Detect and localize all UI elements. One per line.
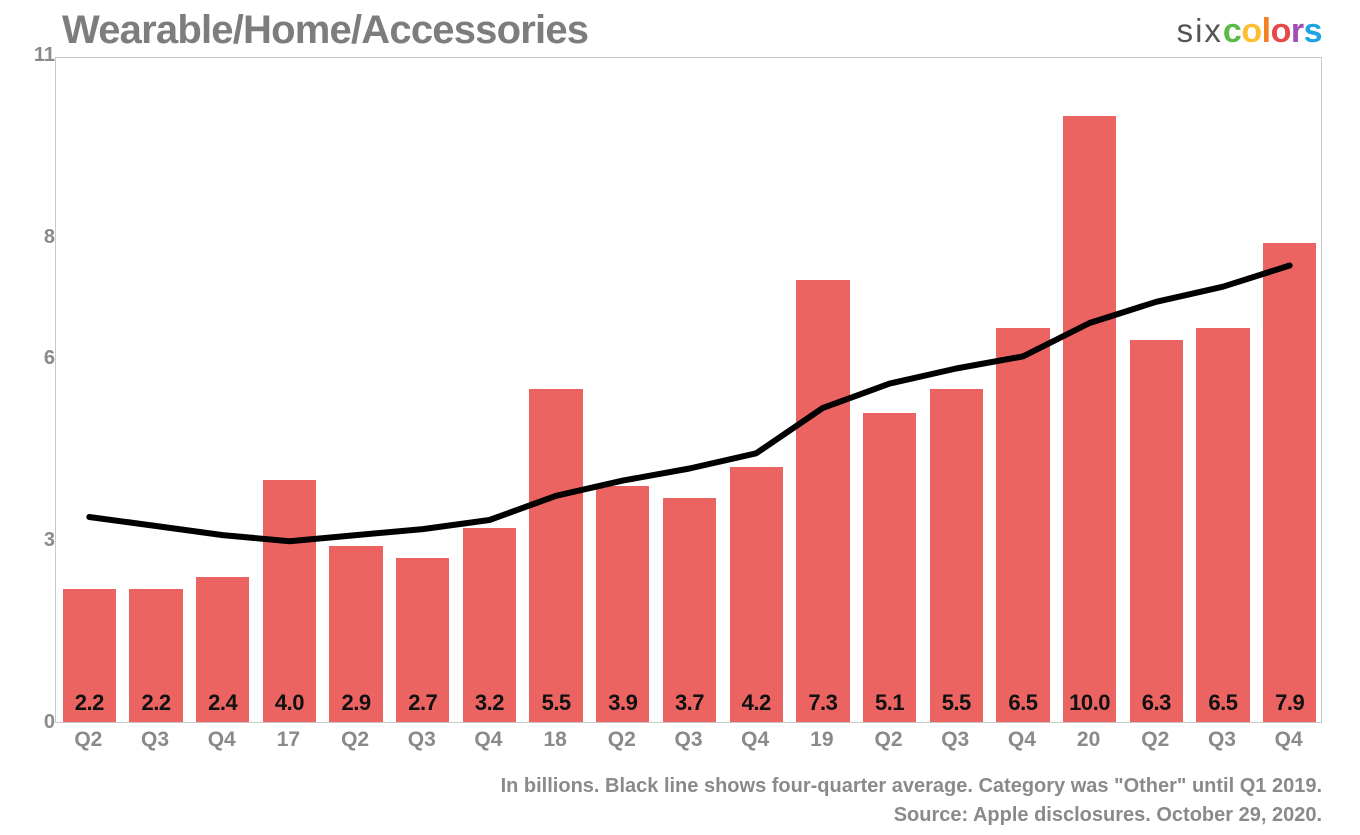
bar: 7.3 xyxy=(796,280,849,722)
page-title: Wearable/Home/Accessories xyxy=(62,8,588,52)
bar-value-label: 10.0 xyxy=(1063,690,1116,716)
bar-value-label: 4.0 xyxy=(263,690,316,716)
bar: 4.2 xyxy=(730,467,783,722)
x-axis-tick: 20 xyxy=(1055,729,1122,751)
x-axis-tick: Q4 xyxy=(989,729,1056,751)
x-axis-tick: Q3 xyxy=(922,729,989,751)
x-axis-tick: 18 xyxy=(522,729,589,751)
bar-value-label: 6.3 xyxy=(1130,690,1183,716)
bar-value-label: 3.2 xyxy=(463,690,516,716)
logo-letter-1: o xyxy=(1241,12,1261,50)
bar-value-label: 2.9 xyxy=(329,690,382,716)
plot-frame: 2.22.22.44.02.92.73.25.53.93.74.27.35.15… xyxy=(55,57,1322,723)
bar-value-label: 7.9 xyxy=(1263,690,1316,716)
bar: 2.2 xyxy=(129,589,182,722)
bar: 7.9 xyxy=(1263,243,1316,722)
bar: 2.2 xyxy=(63,589,116,722)
six-colors-logo: sixcolors xyxy=(1177,14,1322,48)
y-axis-tick-8: 8 xyxy=(11,227,55,247)
x-axis-tick: Q2 xyxy=(55,729,122,751)
bar: 3.9 xyxy=(596,486,649,722)
y-axis-tick-6: 6 xyxy=(11,348,55,368)
bar-value-label: 5.5 xyxy=(930,690,983,716)
x-axis-tick: Q4 xyxy=(455,729,522,751)
bar: 6.5 xyxy=(1196,328,1249,722)
bar: 4.0 xyxy=(263,480,316,722)
logo-text-colors: colors xyxy=(1223,12,1322,50)
bar-value-label: 3.7 xyxy=(663,690,716,716)
x-axis-tick: Q2 xyxy=(1122,729,1189,751)
footnotes: In billions. Black line shows four-quart… xyxy=(501,772,1322,830)
x-axis-tick: Q3 xyxy=(122,729,189,751)
x-axis-tick: Q2 xyxy=(588,729,655,751)
bar-value-label: 2.2 xyxy=(129,690,182,716)
x-axis-tick: Q4 xyxy=(1255,729,1322,751)
x-axis-tick: Q3 xyxy=(655,729,722,751)
logo-letter-3: o xyxy=(1271,12,1291,50)
bar: 2.7 xyxy=(396,558,449,722)
plot-area: 2.22.22.44.02.92.73.25.53.93.74.27.35.15… xyxy=(56,58,1321,722)
bar-value-label: 5.1 xyxy=(863,690,916,716)
bar: 10.0 xyxy=(1063,116,1116,722)
bar: 5.5 xyxy=(529,389,582,722)
x-axis-tick: Q3 xyxy=(1189,729,1256,751)
footnote-line-2: Source: Apple disclosures. October 29, 2… xyxy=(501,801,1322,830)
bar-value-label: 3.9 xyxy=(596,690,649,716)
x-axis-tick: 17 xyxy=(255,729,322,751)
chart-page: Wearable/Home/Accessories sixcolors 2.22… xyxy=(0,0,1360,835)
logo-letter-0: c xyxy=(1223,12,1241,50)
x-axis-tick: Q4 xyxy=(188,729,255,751)
bar: 3.7 xyxy=(663,498,716,722)
x-axis-tick: Q2 xyxy=(855,729,922,751)
bar-value-label: 2.2 xyxy=(63,690,116,716)
logo-text-six: six xyxy=(1177,12,1223,49)
bar-value-label: 2.7 xyxy=(396,690,449,716)
bar-value-label: 6.5 xyxy=(996,690,1049,716)
bar-value-label: 4.2 xyxy=(730,690,783,716)
bar-value-label: 6.5 xyxy=(1196,690,1249,716)
x-axis-tick: Q2 xyxy=(322,729,389,751)
bar: 5.5 xyxy=(930,389,983,722)
bar-value-label: 5.5 xyxy=(529,690,582,716)
footnote-line-1: In billions. Black line shows four-quart… xyxy=(501,772,1322,801)
x-axis-tick: Q4 xyxy=(722,729,789,751)
y-axis-tick-3: 3 xyxy=(11,530,55,550)
bar-value-label: 7.3 xyxy=(796,690,849,716)
bar: 6.3 xyxy=(1130,340,1183,722)
bar: 3.2 xyxy=(463,528,516,722)
logo-letter-2: l xyxy=(1262,12,1271,50)
y-axis-tick-0: 0 xyxy=(11,712,55,732)
bar: 2.4 xyxy=(196,577,249,722)
logo-letter-4: r xyxy=(1291,12,1304,50)
bar: 2.9 xyxy=(329,546,382,722)
logo-letter-5: s xyxy=(1304,12,1322,50)
bar-value-label: 2.4 xyxy=(196,690,249,716)
y-axis-tick-11: 11 xyxy=(11,45,55,65)
x-axis-tick: Q3 xyxy=(388,729,455,751)
x-axis-tick: 19 xyxy=(789,729,856,751)
bar: 5.1 xyxy=(863,413,916,722)
bar: 6.5 xyxy=(996,328,1049,722)
